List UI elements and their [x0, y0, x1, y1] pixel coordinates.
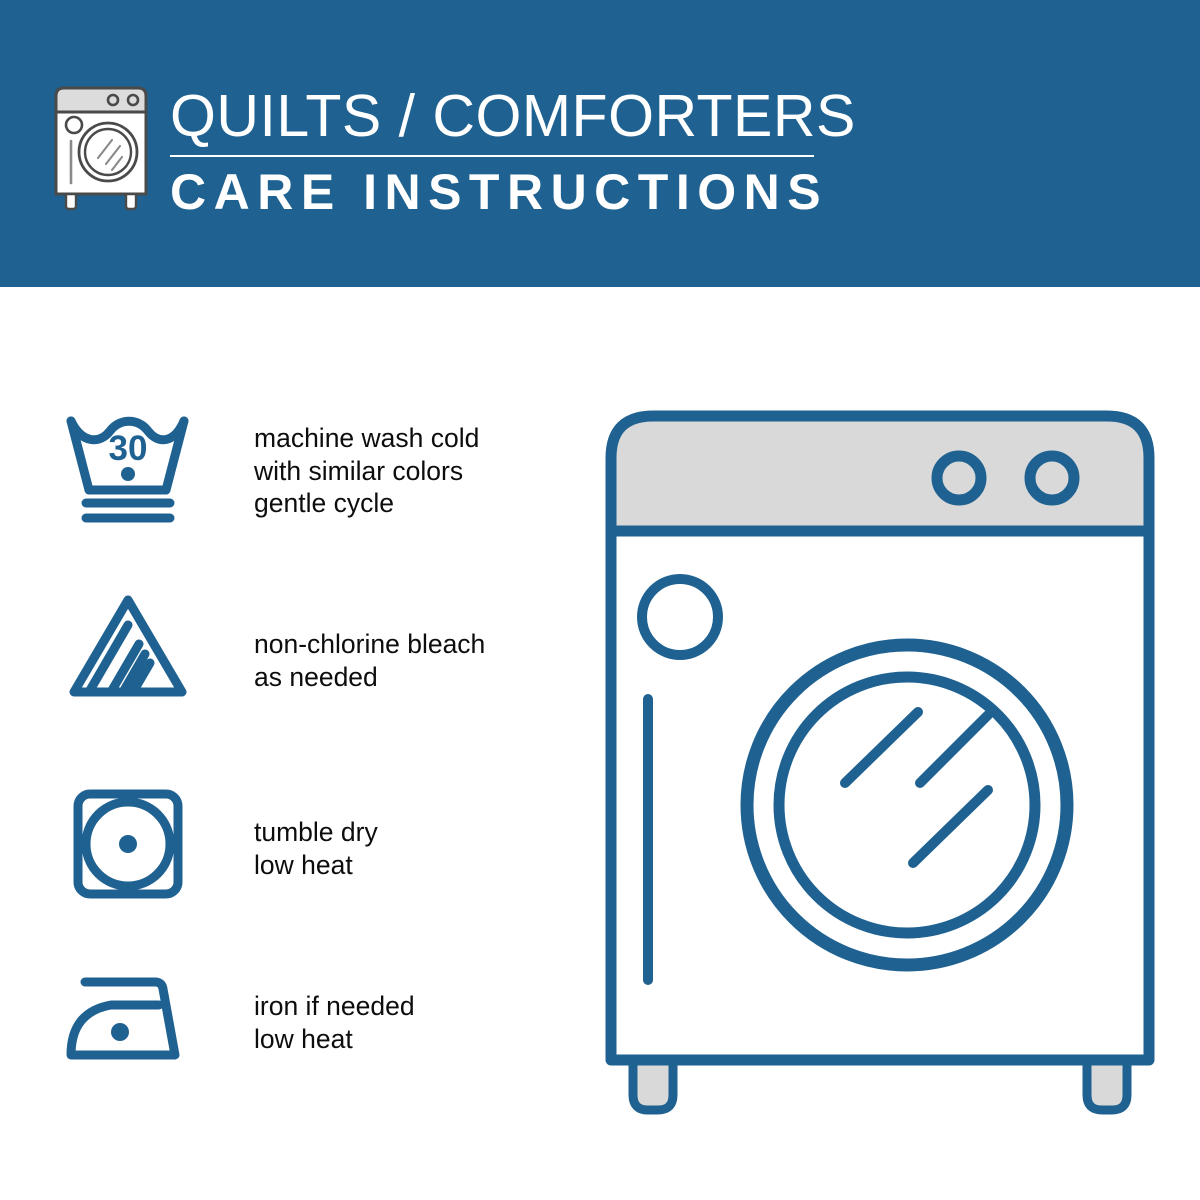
- header-title-block: QUILTS / COMFORTERS CARE INSTRUCTIONS: [170, 84, 830, 219]
- care-text-bleach: non-chlorine bleach as needed: [254, 628, 485, 693]
- front-load-washing-machine-illustration: [600, 405, 1160, 1120]
- care-text-machine-wash: machine wash cold with similar colors ge…: [254, 422, 479, 520]
- care-row-bleach: non-chlorine bleach as needed: [0, 588, 540, 728]
- care-line: with similar colors: [254, 455, 479, 488]
- page-subtitle: CARE INSTRUCTIONS: [170, 165, 830, 219]
- care-text-iron: iron if needed low heat: [254, 990, 415, 1055]
- washing-machine-icon: [50, 82, 162, 212]
- care-row-iron: iron if needed low heat: [0, 952, 540, 1092]
- care-line: non-chlorine bleach: [254, 628, 485, 661]
- care-line: iron if needed: [254, 990, 415, 1023]
- care-line: gentle cycle: [254, 487, 479, 520]
- title-divider: [170, 155, 814, 157]
- care-line: as needed: [254, 661, 485, 694]
- care-text-tumble-dry: tumble dry low heat: [254, 816, 378, 881]
- iron-low-heat-icon: [62, 952, 194, 1084]
- header-banner: QUILTS / COMFORTERS CARE INSTRUCTIONS: [0, 0, 1200, 287]
- page-title: QUILTS / COMFORTERS: [170, 84, 830, 148]
- non-chlorine-bleach-icon: [62, 588, 194, 720]
- care-row-machine-wash: 30 machine wash cold with similar colors…: [0, 400, 540, 540]
- machine-wash-30-gentle-icon: 30: [62, 400, 194, 532]
- care-line: tumble dry: [254, 816, 378, 849]
- wash-temperature-value: 30: [109, 429, 148, 468]
- care-line: low heat: [254, 849, 378, 882]
- care-row-tumble-dry: tumble dry low heat: [0, 778, 540, 918]
- care-line: low heat: [254, 1023, 415, 1056]
- tumble-dry-low-icon: [62, 778, 194, 910]
- care-line: machine wash cold: [254, 422, 479, 455]
